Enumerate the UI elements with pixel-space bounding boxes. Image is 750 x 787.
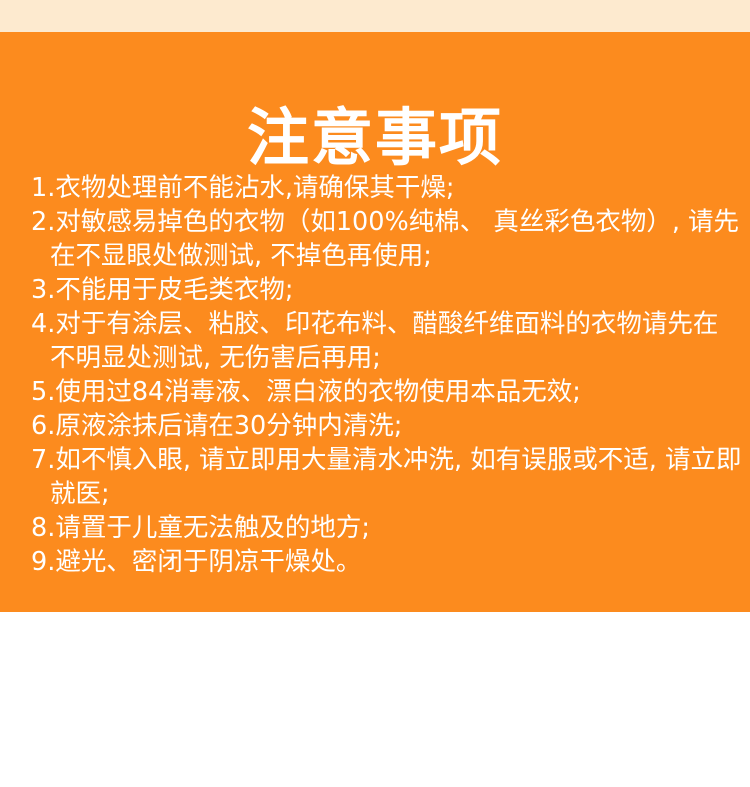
top-cream-band xyxy=(0,0,750,32)
list-item: 2.对敏感易掉色的衣物（如100%纯棉、 真丝彩色衣物）, 请先在不显眼处做测试… xyxy=(31,205,743,273)
product-detail-page: 注意事项 1.衣物处理前不能沾水,请确保其干燥; 2.对敏感易掉色的衣物（如10… xyxy=(0,0,750,787)
bottom-white-area xyxy=(0,612,750,787)
list-item: 6.原液涂抹后请在30分钟内清洗; xyxy=(31,409,743,443)
list-item: 3.不能用于皮毛类衣物; xyxy=(31,273,743,307)
list-item: 8.请置于儿童无法触及的地方; xyxy=(31,511,743,545)
notice-panel: 注意事项 1.衣物处理前不能沾水,请确保其干燥; 2.对敏感易掉色的衣物（如10… xyxy=(0,32,750,612)
page-title: 注意事项 xyxy=(0,100,750,176)
list-item: 1.衣物处理前不能沾水,请确保其干燥; xyxy=(31,171,743,205)
notice-list: 1.衣物处理前不能沾水,请确保其干燥; 2.对敏感易掉色的衣物（如100%纯棉、… xyxy=(31,171,743,579)
list-item: 5.使用过84消毒液、漂白液的衣物使用本品无效; xyxy=(31,375,743,409)
list-item: 4.对于有涂层、粘胶、印花布料、醋酸纤维面料的衣物请先在不明显处测试, 无伤害后… xyxy=(31,307,743,375)
list-item: 9.避光、密闭于阴凉干燥处。 xyxy=(31,545,743,579)
list-item: 7.如不慎入眼, 请立即用大量清水冲洗, 如有误服或不适, 请立即就医; xyxy=(31,443,743,511)
